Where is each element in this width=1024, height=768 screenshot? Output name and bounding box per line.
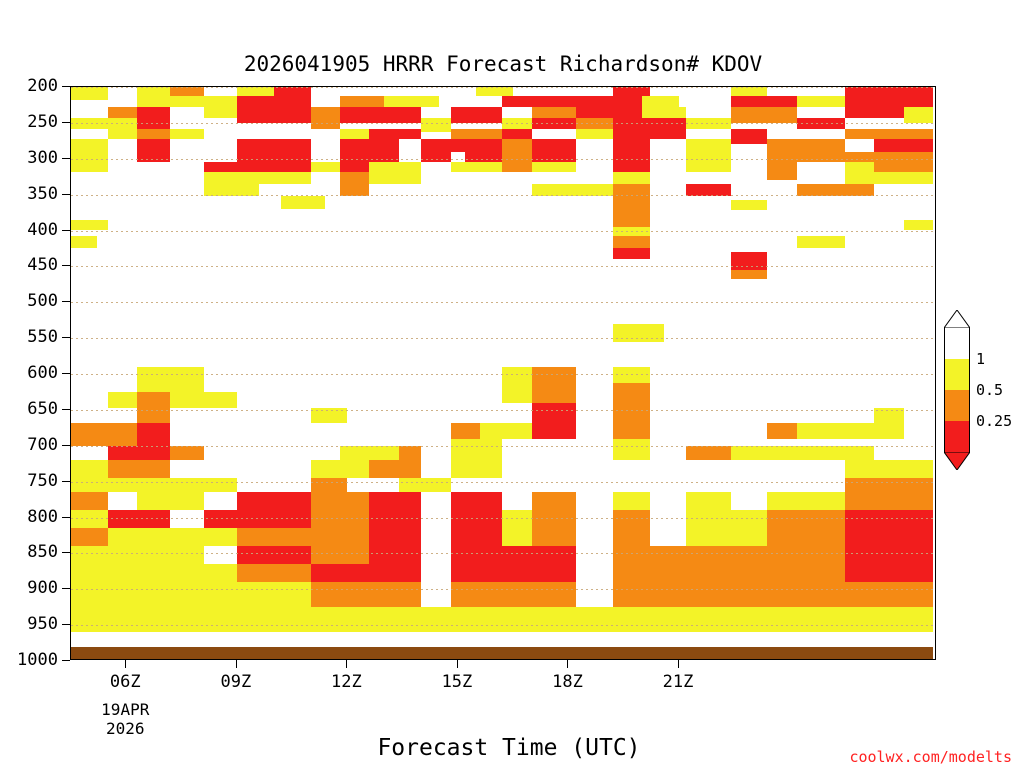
heatmap-cell [399,446,421,460]
gridline [71,374,935,375]
x-axis-labels: 06Z09Z12Z15Z18Z21Z [0,660,1024,700]
heatmap-cell [369,162,421,171]
heatmap-cell [532,492,576,510]
heatmap-cell [845,162,874,171]
heatmap-cell [845,492,933,510]
heatmap-cell [71,607,933,632]
heatmap-cell [532,510,576,528]
heatmap-cell [613,236,650,248]
heatmap-cell [71,236,97,248]
y-axis-tick [62,409,70,410]
x-axis-tick-label: 12Z [331,672,362,692]
heatmap-cell [532,423,576,439]
heatmap-cell [613,139,650,152]
heatmap-cell [465,152,502,163]
gridline [71,518,935,519]
heatmap-cell [613,439,650,461]
heatmap-cell [204,107,237,118]
heatmap-cell [71,582,237,607]
y-axis-tick [62,588,70,589]
heatmap-cell [576,129,613,139]
colorbar-segment [944,390,970,421]
heatmap-cell [845,582,933,607]
heatmap-cell [237,546,311,564]
heatmap-cell [237,152,311,163]
heatmap-cell [311,162,340,171]
heatmap-cell [340,96,384,107]
heatmap-cell [767,152,844,163]
colorbar-over-arrow-outline [944,310,970,328]
heatmap-cell [204,162,311,171]
heatmap-cell [797,236,845,248]
y-axis-tick-label: 400 [27,220,58,240]
heatmap-cell [108,446,171,460]
y-axis-tick [62,158,70,159]
gridline [71,87,935,88]
y-axis-labels: 2002503003504004505005506006507007508008… [0,86,66,660]
heatmap-cell [767,139,844,152]
heatmap-cell [613,248,650,259]
heatmap-cell [369,510,421,528]
heatmap-cell [421,139,502,152]
colorbar-body [944,328,970,452]
colorbar-under-arrow-outline [944,452,970,470]
heatmap-cell [451,528,503,546]
heatmap-cell [137,152,170,163]
x-axis-tick [236,660,237,668]
heatmap-cell [451,423,480,439]
y-axis-tick [62,122,70,123]
x-axis-tick [457,660,458,668]
heatmap-cell [532,403,576,423]
y-axis-tick-label: 650 [27,399,58,419]
heatmap-cell [137,423,170,446]
heatmap-cell [642,107,686,118]
heatmap-cell [686,510,767,528]
heatmap-cell [686,564,844,582]
heatmap-cell [532,139,576,152]
y-axis-tick-label: 700 [27,435,58,455]
heatmap-cell [71,460,108,478]
colorbar-tick-label: 1 [976,350,985,368]
heatmap-cell [532,383,576,403]
heatmap-cell [502,96,642,107]
heatmap-cell [904,107,933,123]
heatmap-cell [137,492,203,510]
heatmap-cell [686,139,730,152]
heatmap-cell [71,162,108,171]
heatmap-cell [874,162,933,171]
heatmap-cell [71,546,137,564]
heatmap-cell [369,460,421,478]
heatmap-cell [845,478,933,492]
heatmap-cell [399,478,451,492]
heatmap-cell [731,129,768,145]
heatmap-cell [137,367,203,392]
gridline [71,446,935,447]
heatmap-cell [613,423,650,439]
heatmap-cell [237,87,274,96]
heatmap-cell [71,632,933,646]
x-axis-tick [567,660,568,668]
colorbar-segment [944,328,970,359]
credit-watermark: coolwx.com/modelts [849,748,1012,766]
x-axis-tick-label: 06Z [110,672,141,692]
heatmap-cell [137,87,170,96]
heatmap-cell [731,96,797,107]
heatmap-cell [845,546,933,564]
heatmap-cell [613,210,650,227]
heatmap-cell [451,129,503,139]
heatmap-cell [170,129,203,139]
heatmap-cell [502,383,531,403]
chart-root: 2026041905 HRRR Forecast Richardson# KDO… [0,0,1024,768]
heatmap-cell [480,423,532,439]
page-title: 2026041905 HRRR Forecast Richardson# KDO… [0,52,1024,76]
heatmap-cell [532,162,576,171]
heatmap-cell [731,87,768,96]
heatmap-cell [451,492,503,510]
heatmap-cell [71,510,108,528]
heatmap-cell [613,582,845,607]
heatmap-cell [686,546,767,564]
heatmap-cell [613,383,650,403]
y-axis-tick [62,86,70,87]
x-axis-tick [346,660,347,668]
y-axis-tick-label: 900 [27,578,58,598]
heatmap-cell [613,564,687,582]
y-axis-tick-label: 550 [27,327,58,347]
heatmap-cell [797,423,904,439]
colorbar-tick-label: 0.5 [976,381,1003,399]
heatmap-cell [845,172,933,184]
gridline [71,625,935,626]
heatmap-cell [108,478,171,492]
colorbar-legend: 10.50.25 [944,310,970,470]
heatmap-cell [384,96,439,107]
y-axis-tick [62,517,70,518]
heatmap-cell [71,139,108,152]
heatmap-cell [686,492,730,510]
y-axis-tick [62,265,70,266]
heatmap-cell [451,546,503,564]
x-axis-tick [125,660,126,668]
heatmap-cell [71,478,108,492]
heatmap-cell [502,546,576,564]
y-axis-tick [62,337,70,338]
heatmap-cell [613,129,687,139]
gridline [71,231,935,232]
y-axis-tick-label: 950 [27,614,58,634]
heatmap-cell [797,96,845,107]
heatmap-cell [137,96,236,107]
heatmap-cell [170,564,236,582]
x-axis-tick-label: 15Z [442,672,473,692]
heatmap-cell [71,87,108,100]
heatmap-cell [137,139,170,152]
heatmap-cell [845,107,904,118]
heatmap-cell [204,172,237,184]
heatmap-cell [502,152,531,163]
heatmap-cells [71,87,935,659]
heatmap-cell [642,96,679,107]
heatmap-cell [451,460,503,478]
colorbar-segment [944,421,970,452]
heatmap-cell [797,446,874,460]
heatmap-cell [613,162,650,171]
heatmap-cell [170,87,203,96]
heatmap-cell [502,129,531,139]
heatmap-cell [108,528,171,546]
heatmap-cell [845,96,933,107]
heatmap-cell [369,546,421,564]
y-axis-tick [62,624,70,625]
y-axis-tick-label: 350 [27,184,58,204]
heatmap-cell [340,162,369,171]
heatmap-cell [71,492,108,510]
heatmap-cell [311,460,370,478]
heatmap-cell [731,107,797,123]
heatmap-cell [613,152,650,163]
heatmap-cell [137,546,203,564]
y-axis-tick [62,445,70,446]
heatmap-cell [613,546,687,564]
heatmap-cell [502,528,531,546]
heatmap-cell [237,139,311,152]
heatmap-cell [686,528,767,546]
y-axis-tick-label: 500 [27,291,58,311]
date-stack-label: 19APR2026 [90,700,160,738]
heatmap-cell [311,546,370,564]
heatmap-cell [731,270,768,279]
heatmap-cell [845,460,933,478]
heatmap-cell [170,478,236,492]
heatmap-cell [281,196,325,209]
heatmap-cell [71,647,933,660]
heatmap-cell [451,162,503,171]
heatmap-cell [311,107,340,118]
heatmap-cell [421,118,450,132]
y-axis-tick [62,301,70,302]
heatmap-cell [451,439,503,461]
heatmap-cell [71,423,137,446]
heatmap-cell [767,546,844,564]
x-axis-tick [678,660,679,668]
gridline [71,589,935,590]
heatmap-cell [237,172,311,184]
heatmap-cell [340,152,399,163]
heatmap-cell [108,510,171,528]
gridline [71,123,935,124]
heatmap-cell [845,528,933,546]
heatmap-cell [71,220,108,231]
heatmap-cell [311,510,370,528]
heatmap-cell [767,162,796,180]
heatmap-cell [170,392,236,409]
heatmap-cell [686,152,730,163]
x-axis-tick-label: 21Z [663,672,694,692]
heatmap-cell [274,87,311,96]
y-axis-tick [62,481,70,482]
heatmap-cell [502,139,531,152]
heatmap-cell [613,403,650,423]
heatmap-cell [532,528,576,546]
heatmap-cell [170,528,236,546]
y-axis-tick [62,194,70,195]
heatmap-cell [340,139,399,152]
heatmap-cell [421,152,450,163]
heatmap-cell [767,510,844,528]
heatmap-cell [311,564,422,582]
heatmap-cell [613,196,650,210]
gridline [71,302,935,303]
heatmap-cell [532,152,576,163]
heatmap-cell [767,492,844,510]
y-axis-tick-label: 600 [27,363,58,383]
x-axis-tick-label: 18Z [552,672,583,692]
gridline [71,482,935,483]
heatmap-cell [613,492,650,510]
gridline [71,338,935,339]
heatmap-cell [476,87,513,96]
y-axis-tick-label: 250 [27,112,58,132]
heatmap-cell [204,510,237,528]
y-axis-tick-label: 450 [27,255,58,275]
y-axis-tick [62,230,70,231]
heatmap-cell [108,460,171,478]
heatmap-cell [613,172,650,184]
y-axis-tick-label: 800 [27,507,58,527]
heatmap-cell [576,107,642,118]
heatmap-cell [311,492,370,510]
gridline [71,195,935,196]
heatmap-cell [71,564,170,582]
heatmap-cell [451,582,576,607]
colorbar-tick-label: 0.25 [976,412,1012,430]
heatmap-cell [874,139,933,152]
colorbar-segment [944,359,970,390]
heatmap-cell [340,172,369,184]
heatmap-cell [108,392,137,409]
heatmap-cell [369,492,421,510]
heatmap-cell [237,107,311,123]
heatmap-cell [904,220,933,231]
heatmap-cell [613,227,650,236]
heatmap-cell [451,564,576,582]
heatmap-cell [845,129,933,139]
heatmap-cell [845,564,933,582]
date-line: 19APR [90,700,160,719]
heatmap-cell [731,200,768,210]
y-axis-tick [62,373,70,374]
heatmap-cell [767,423,796,439]
gridline [71,553,935,554]
y-axis-tick-label: 750 [27,471,58,491]
heatmap-cell [71,528,108,546]
heatmap-cell [451,510,503,528]
heatmap-cell [613,87,650,96]
y-axis-tick-label: 200 [27,76,58,96]
heatmap-cell [340,129,369,139]
heatmap-cell [845,87,933,96]
heatmap-cell [369,528,421,546]
heatmap-cell [170,446,203,460]
heatmap-cell [451,107,503,123]
heatmap-cell [613,510,650,528]
heatmap-cell [845,152,933,163]
heatmap-cell [137,107,170,118]
gridline [71,410,935,411]
heatmap-cell [237,510,311,528]
heatmap-cell [237,528,311,546]
heatmap-cell [369,172,421,184]
gridline [71,159,935,160]
heatmap-cell [71,152,108,163]
gridline [71,266,935,267]
heatmap-cell [532,107,576,118]
y-axis-tick-label: 850 [27,542,58,562]
heatmap-plot-area [70,86,936,660]
heatmap-cell [340,446,399,460]
heatmap-cell [767,528,844,546]
heatmap-cell [237,564,311,582]
heatmap-cell [237,492,311,510]
heatmap-cell [686,446,730,460]
x-axis-tick-label: 09Z [220,672,251,692]
heatmap-cell [686,162,730,171]
heatmap-cell [108,107,137,118]
heatmap-cell [137,392,170,409]
heatmap-cell [311,478,348,492]
heatmap-cell [369,129,421,139]
heatmap-cell [502,510,531,528]
heatmap-cell [613,528,650,546]
heatmap-cell [845,510,933,528]
heatmap-cell [311,582,422,607]
heatmap-cell [731,446,797,460]
y-axis-tick [62,552,70,553]
heatmap-cell [502,162,531,171]
heatmap-cell [311,528,370,546]
heatmap-cell [237,96,311,107]
heatmap-cell [340,107,421,123]
y-axis-tick-label: 300 [27,148,58,168]
heatmap-cell [237,582,311,607]
heatmap-cell [137,129,170,139]
heatmap-cell [108,129,137,139]
